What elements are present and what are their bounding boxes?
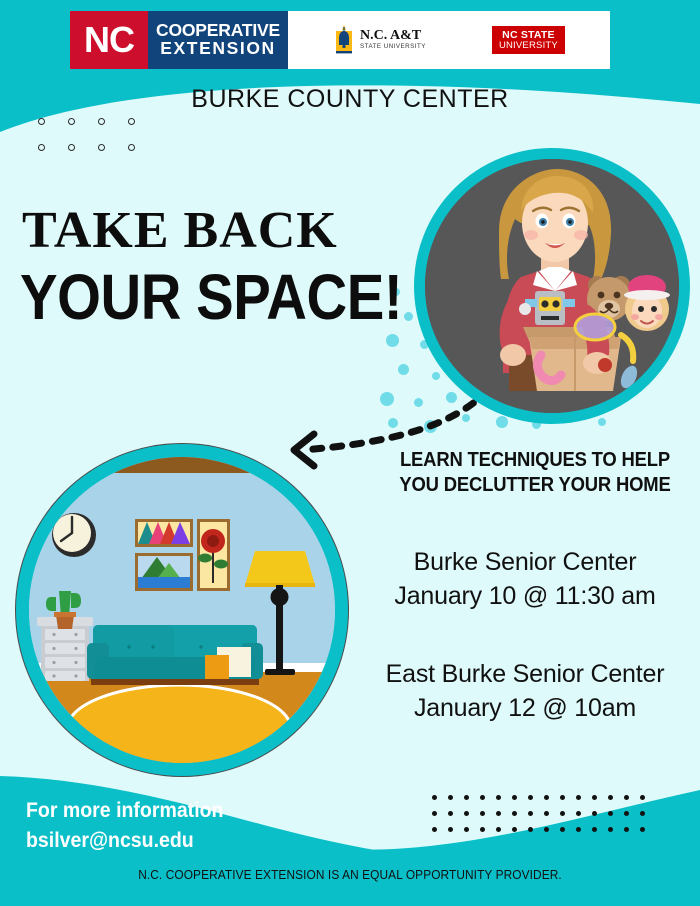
county-center-title: BURKE COUNTY CENTER	[0, 85, 700, 114]
event-1-datetime: January 10 @ 11:30 am	[350, 580, 700, 614]
event-2-venue: East Burke Senior Center	[350, 658, 700, 692]
contact-email[interactable]: bsilver@ncsu.edu	[26, 826, 223, 856]
cooperative-extension-wordmark: COOPERATIVE EXTENSION	[148, 11, 288, 69]
subhead-line-2: YOU DECLUTTER YOUR HOME	[387, 473, 684, 497]
cooperative-extension-logo-bar: NC COOPERATIVE EXTENSION N.C. A&T STATE …	[70, 11, 610, 69]
bell-tower-icon	[333, 25, 355, 55]
equal-opportunity-disclaimer: N.C. COOPERATIVE EXTENSION IS AN EQUAL O…	[18, 868, 683, 882]
headline-line-2: YOUR SPACE!	[20, 265, 402, 329]
partner-logos: N.C. A&T STATE UNIVERSITY NC STATE UNIVE…	[288, 11, 610, 69]
ncat-text: N.C. A&T STATE UNIVERSITY	[360, 29, 426, 52]
headline-line-1: TAKE BACK	[22, 205, 338, 257]
extension-line: EXTENSION	[154, 40, 282, 58]
ncat-name: N.C. A&T	[360, 29, 426, 43]
ncstate-subtitle: UNIVERSITY	[499, 41, 558, 51]
ncstate-name: NC STATE	[502, 30, 555, 41]
nc-mark: NC	[70, 11, 148, 69]
event-2: East Burke Senior Center January 12 @ 10…	[350, 658, 700, 726]
nc-mark-text: NC	[84, 22, 134, 58]
poster-canvas: NC COOPERATIVE EXTENSION N.C. A&T STATE …	[0, 0, 700, 906]
ncat-subtitle: STATE UNIVERSITY	[360, 43, 426, 52]
woman-with-donation-box-illustration	[414, 148, 690, 424]
event-1: Burke Senior Center January 10 @ 11:30 a…	[350, 546, 700, 614]
subhead-line-1: LEARN TECHNIQUES TO HELP	[387, 448, 684, 472]
event-2-datetime: January 12 @ 10am	[350, 692, 700, 726]
ncstate-logo: NC STATE UNIVERSITY	[492, 26, 565, 55]
living-room-illustration	[16, 444, 348, 776]
event-1-venue: Burke Senior Center	[350, 546, 700, 580]
ncat-logo: N.C. A&T STATE UNIVERSITY	[333, 25, 426, 55]
contact-line-1: For more information	[26, 796, 223, 826]
contact-info: For more information bsilver@ncsu.edu	[26, 796, 223, 857]
